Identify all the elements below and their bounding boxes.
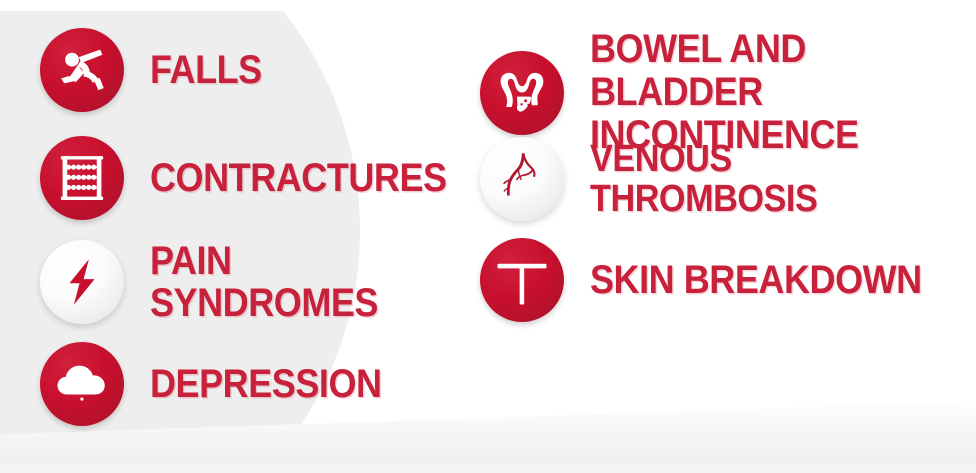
right-column: BOWEL AND BLADDER INCONTINENCE — [470, 0, 970, 473]
cloud-icon — [40, 342, 124, 426]
intestine-icon — [480, 51, 564, 135]
list-item-label: SKIN BREAKDOWN — [590, 259, 922, 301]
blood-vessel-icon — [480, 137, 564, 221]
list-item-contractures[interactable]: CONTRACTURES — [40, 136, 480, 220]
list-item-label: FALLS — [150, 49, 262, 91]
list-item-pain-syndromes[interactable]: PAIN SYNDROMES — [40, 240, 470, 325]
infographic-slide: FALLS — [0, 0, 976, 473]
list-item-depression[interactable]: DEPRESSION — [40, 342, 407, 426]
list-item-label: PAIN SYNDROMES — [150, 240, 438, 325]
abacus-icon — [40, 136, 124, 220]
list-item-venous-thrombosis[interactable]: VENOUS THROMBOSIS — [480, 137, 970, 221]
list-item-label: CONTRACTURES — [150, 157, 447, 199]
list-item-label: VENOUS THROMBOSIS — [590, 139, 932, 220]
lightning-bolt-icon — [40, 240, 124, 324]
list-item-falls[interactable]: FALLS — [40, 28, 274, 112]
bandage-t-icon — [480, 238, 564, 322]
list-item-skin-breakdown[interactable]: SKIN BREAKDOWN — [480, 238, 959, 322]
list-item-label: DEPRESSION — [150, 363, 382, 405]
left-column: FALLS — [40, 0, 470, 473]
falling-person-icon — [40, 28, 124, 112]
